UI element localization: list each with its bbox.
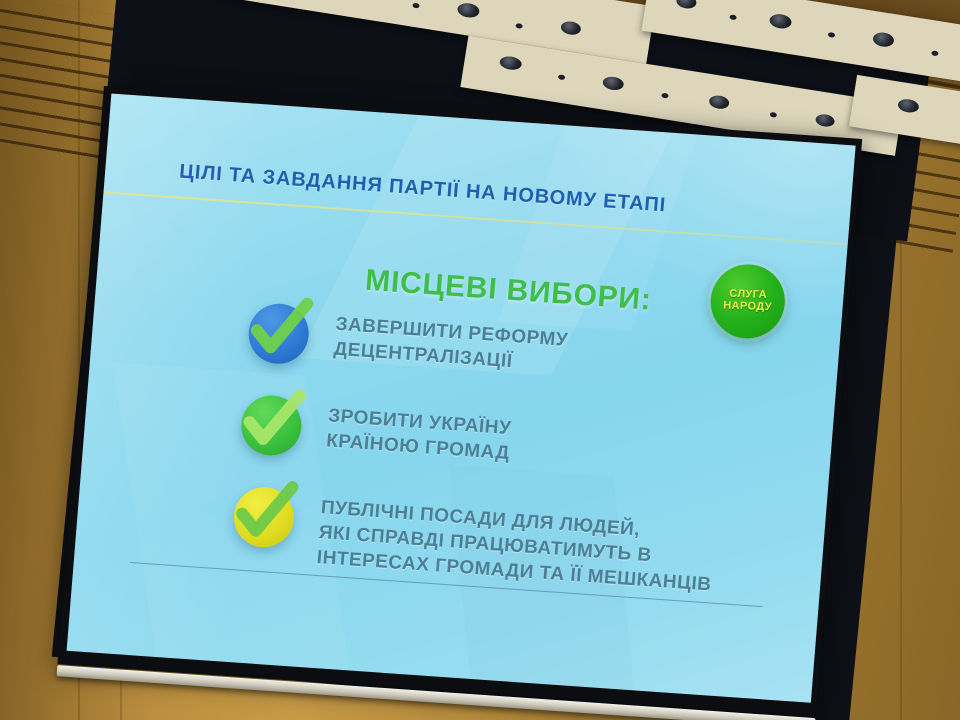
downlight-icon <box>815 113 836 128</box>
slide-title: МІСЦЕВІ ВИБОРИ: <box>364 264 653 318</box>
downlight-icon <box>769 13 793 30</box>
downlight-icon <box>558 74 566 80</box>
downlight-icon <box>769 112 777 118</box>
downlight-icon <box>515 23 523 29</box>
bullet-item: ЗРОБИТИ УКРАЇНУ КРАЇНОЮ ГРОМАД <box>233 391 807 499</box>
check-circle-blue-icon <box>240 293 320 372</box>
downlight-icon <box>897 98 920 114</box>
room-photo-scene: ЦІЛІ ТА ЗАВДАННЯ ПАРТІЇ НА НОВОМУ ЕТАПІ … <box>0 0 960 720</box>
downlight-icon <box>676 0 698 10</box>
bullet-item: ПУБЛІЧНІ ПОСАДИ ДЛЯ ЛЮДЕЙ, ЯКІ СПРАВДІ П… <box>224 483 799 604</box>
downlight-icon <box>661 93 669 99</box>
party-logo: СЛУГА НАРОДУ <box>709 263 786 339</box>
bullet-text: ЗРОБИТИ УКРАЇНУ КРАЇНОЮ ГРОМАД <box>325 397 806 486</box>
downlight-icon <box>499 55 523 71</box>
ceiling-light-panel <box>849 75 960 176</box>
downlight-icon <box>456 2 480 19</box>
bullet-list: ЗАВЕРШИТИ РЕФОРМУ ДЕЦЕНТРАЛІЗАЦІЇ <box>222 299 814 627</box>
slide-header-title: ЦІЛІ ТА ЗАВДАННЯ ПАРТІЇ НА НОВОМУ ЕТАПІ <box>178 160 666 217</box>
downlight-icon <box>931 50 939 56</box>
presentation-slide: ЦІЛІ ТА ЗАВДАННЯ ПАРТІЇ НА НОВОМУ ЕТАПІ … <box>67 94 856 703</box>
downlight-icon <box>872 31 895 48</box>
checkmark-glyph <box>240 291 320 370</box>
checkmark-glyph <box>225 475 305 554</box>
downlight-icon <box>729 14 737 20</box>
downlight-icon <box>412 3 420 9</box>
projection-screen: ЦІЛІ ТА ЗАВДАННЯ ПАРТІЇ НА НОВОМУ ЕТАПІ … <box>57 86 862 717</box>
screen-bezel: ЦІЛІ ТА ЗАВДАННЯ ПАРТІЇ НА НОВОМУ ЕТАПІ … <box>57 86 862 717</box>
checkmark-glyph <box>233 383 313 462</box>
check-circle-yellow-icon <box>225 477 305 556</box>
bullet-text: ПУБЛІЧНІ ПОСАДИ ДЛЯ ЛЮДЕЙ, ЯКІ СПРАВДІ П… <box>316 489 799 603</box>
downlight-icon <box>602 75 625 91</box>
check-circle-green-icon <box>233 385 313 464</box>
downlight-icon <box>708 94 730 110</box>
party-logo-line2: НАРОДУ <box>723 301 772 314</box>
downlight-icon <box>560 20 582 36</box>
downlight-icon <box>828 32 836 38</box>
